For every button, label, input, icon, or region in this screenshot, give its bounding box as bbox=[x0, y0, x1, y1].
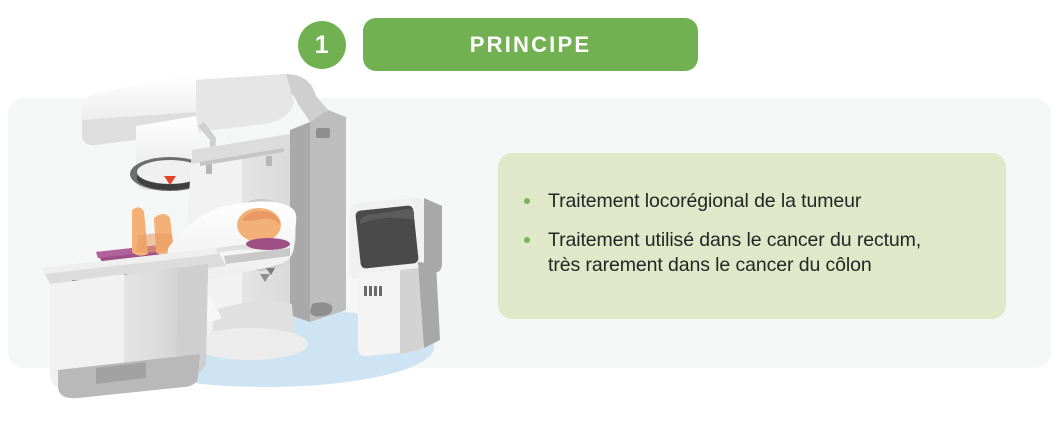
gantry-base-plate bbox=[192, 328, 308, 360]
bullet-list: Traitement locorégional de la tumeur Tra… bbox=[524, 189, 992, 278]
console-monitor-side bbox=[424, 198, 442, 273]
gantry-body-detail-a bbox=[206, 164, 212, 174]
bullet-dot-icon bbox=[524, 237, 530, 243]
step-number-badge: 1 bbox=[298, 21, 346, 69]
gantry-column-slot bbox=[316, 128, 330, 138]
linear-accelerator-illustration bbox=[28, 72, 478, 402]
gantry-column bbox=[310, 110, 346, 322]
list-item: Traitement locorégional de la tumeur bbox=[524, 189, 992, 214]
principle-text-card: Traitement locorégional de la tumeur Tra… bbox=[498, 153, 1006, 319]
section-title-label: PRINCIPE bbox=[470, 34, 592, 56]
list-item-label: Traitement locorégional de la tumeur bbox=[548, 189, 861, 214]
list-item-label: Traitement utilisé dans le cancer du rec… bbox=[548, 228, 921, 278]
section-title-bar: PRINCIPE bbox=[363, 18, 698, 71]
bullet-dot-icon bbox=[524, 198, 530, 204]
gantry-body-detail-b bbox=[266, 156, 272, 166]
list-item: Traitement utilisé dans le cancer du rec… bbox=[524, 228, 992, 278]
gantry-arm-side bbox=[196, 74, 294, 132]
patient-pillow bbox=[246, 238, 290, 250]
